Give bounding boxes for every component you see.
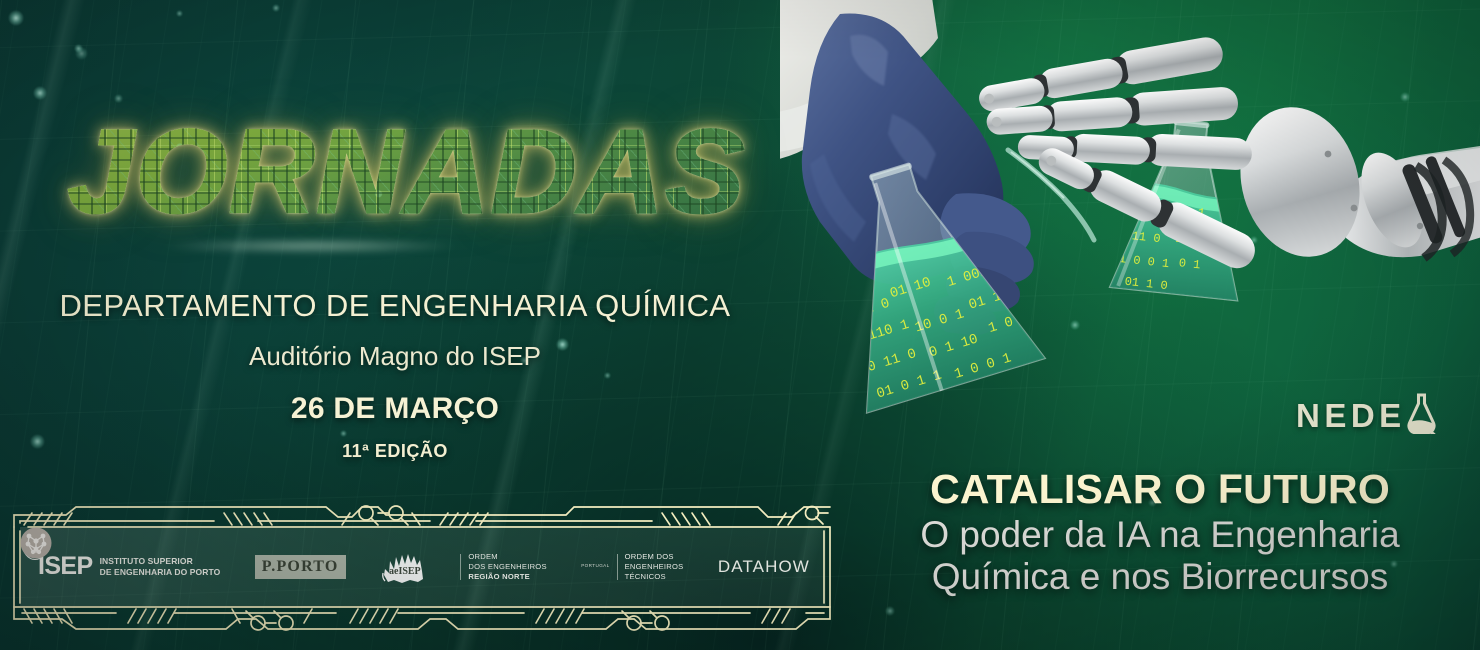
divider bbox=[617, 554, 618, 580]
sponsor-logo-ordem-engenheiros-norte[interactable]: ORDEM DOS ENGENHEIROS REGIÃO NORTE bbox=[460, 552, 546, 582]
headline-title: CATALISAR O FUTURO bbox=[840, 465, 1480, 513]
isep-subtitle-line1: INSTITUTO SUPERIOR bbox=[100, 556, 221, 567]
datahow-network-icon bbox=[20, 527, 52, 559]
bokeh-particle bbox=[8, 10, 24, 26]
jornadas-wordmark: JORNADAS JORNADAS JORNADAS bbox=[52, 108, 762, 238]
nedeq-logo: NEDE bbox=[1296, 392, 1441, 439]
ordem-norte-text: ORDEM DOS ENGENHEIROS REGIÃO NORTE bbox=[468, 552, 546, 582]
bokeh-particle bbox=[74, 44, 83, 53]
sponsor-logo-datahow[interactable]: DATAHOW bbox=[718, 557, 810, 577]
ordem-tecnicos-line2: ENGENHEIROS bbox=[625, 562, 684, 572]
headline-subtitle-line2: Química e nos Biorrecursos bbox=[840, 556, 1480, 598]
bokeh-particle bbox=[176, 10, 183, 17]
event-date: 26 DE MARÇO bbox=[0, 392, 790, 426]
ordem-norte-line2: DOS ENGENHEIROS bbox=[468, 562, 546, 572]
headline-subtitle: O poder da IA na Engenharia Química e no… bbox=[840, 514, 1480, 598]
hero-illustration: 10 1 001 10 1 0010 110 1 10 0 101 1 1 0 … bbox=[780, 0, 1480, 424]
headline-subtitle-line1: O poder da IA na Engenharia bbox=[840, 514, 1480, 556]
divider bbox=[460, 554, 461, 580]
aeisep-wordmark: aeISEP bbox=[389, 566, 421, 577]
bokeh-particle bbox=[885, 606, 895, 616]
nedeq-wordmark: NEDE bbox=[1296, 397, 1406, 435]
jornadas-circuit-fill: JORNADAS bbox=[52, 108, 762, 238]
datahow-wordmark: DATAHOW bbox=[718, 557, 810, 577]
ordem-tecnicos-text: ORDEM DOS ENGENHEIROS TÉCNICOS bbox=[625, 552, 684, 582]
bokeh-particle bbox=[75, 47, 88, 60]
edition-badge: 11ª EDIÇÃO bbox=[0, 441, 790, 462]
event-poster: 10 1 001 10 1 0010 110 1 10 0 101 1 1 0 … bbox=[0, 0, 1480, 650]
bokeh-particle bbox=[604, 372, 611, 379]
jornadas-underglow bbox=[96, 236, 526, 256]
sponsor-logo-bar: ISEP INSTITUTO SUPERIOR DE ENGENHARIA DO… bbox=[20, 527, 826, 606]
venue-label: Auditório Magno do ISEP bbox=[0, 341, 790, 372]
department-label: DEPARTAMENTO DE ENGENHARIA QUÍMICA bbox=[0, 288, 790, 324]
sponsor-logo-ordem-engenheiros-tecnicos[interactable]: PORTUGAL ORDEM DOS ENGENHEIROS TÉCNICOS bbox=[581, 552, 683, 582]
isep-subtitle-line2: DE ENGENHARIA DO PORTO bbox=[100, 567, 221, 578]
nedeq-flask-q-icon bbox=[1401, 392, 1441, 439]
bokeh-particle bbox=[114, 94, 123, 103]
svg-text:0 1: 0 1 bbox=[1178, 256, 1201, 272]
sponsor-frame: ISEP INSTITUTO SUPERIOR DE ENGENHARIA DO… bbox=[6, 501, 838, 632]
ordem-tecnicos-caption: PORTUGAL bbox=[581, 563, 609, 568]
bokeh-particle bbox=[33, 86, 47, 100]
sponsor-logo-aeisep[interactable]: aeISEP bbox=[380, 549, 426, 585]
ordem-norte-line1: ORDEM bbox=[468, 552, 546, 562]
headline-block: CATALISAR O FUTURO O poder da IA na Enge… bbox=[840, 465, 1480, 598]
ordem-tecnicos-line1: ORDEM DOS bbox=[625, 552, 684, 562]
ordem-norte-line3: REGIÃO NORTE bbox=[468, 572, 546, 582]
robotic-hand-icon bbox=[975, 35, 1480, 275]
bokeh-particle bbox=[272, 4, 280, 12]
sponsor-logo-isep[interactable]: ISEP INSTITUTO SUPERIOR DE ENGENHARIA DO… bbox=[38, 552, 220, 581]
aeisep-sketch-icon: aeISEP bbox=[380, 549, 426, 585]
isep-subtitle: INSTITUTO SUPERIOR DE ENGENHARIA DO PORT… bbox=[100, 556, 221, 577]
pporto-wordmark: P.PORTO bbox=[255, 555, 346, 579]
ordem-tecnicos-line3: TÉCNICOS bbox=[625, 572, 684, 582]
bokeh-particle bbox=[340, 430, 347, 437]
sponsor-logo-pporto[interactable]: P.PORTO bbox=[255, 555, 346, 579]
